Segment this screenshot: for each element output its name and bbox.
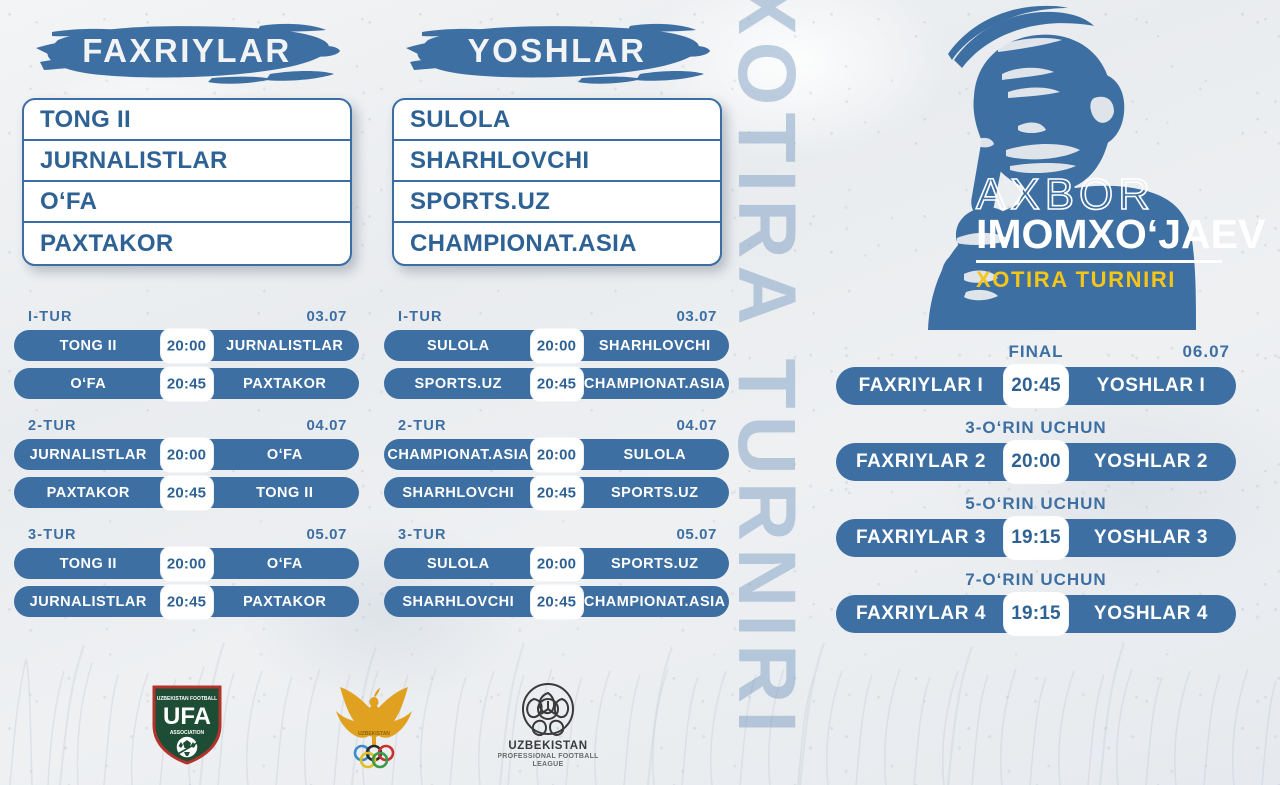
olympic-country-text: UZBEKISTAN [358, 731, 390, 737]
final-block: FINAL 06.07 FAXRIYLAR I 20:45 YOSHLAR I [836, 342, 1236, 405]
partner-logos-row: UZBEKISTAN FOOTBALL UFA ASSOCIATION [130, 679, 600, 771]
tournament-poster: XOTIRA TURNIRI FAXRIYLAR TONG II JURN [0, 0, 1280, 785]
upl-top-text: PROFESSIONAL FOOTBALL [498, 753, 598, 760]
team-list-item: SULOLA [394, 100, 720, 141]
team-list-item: PAXTAKOR [24, 223, 350, 264]
logo-divider-rule [976, 260, 1222, 263]
match-time: 20:00 [161, 547, 213, 580]
group-block-faxriylar: FAXRIYLAR TONG II JURNALISTLAR OʻFA PAXT… [22, 18, 352, 266]
final-label: 5-OʻRIN UCHUN [965, 494, 1106, 514]
final-header: 5-OʻRIN UCHUN [836, 494, 1236, 519]
round-block: 2-TUR 04.07 JURNALISTLAR 20:00 OʻFA PAXT… [14, 417, 359, 508]
team-list-item: CHAMPIONAT.ASIA [394, 223, 720, 264]
match-time: 20:00 [161, 438, 213, 471]
match-row: SPORTS.UZ 20:45 CHAMPIONAT.ASIA [384, 368, 729, 399]
match-row: SHARHLOVCHI 20:45 CHAMPIONAT.ASIA [384, 586, 729, 617]
round-label: I-TUR [398, 309, 443, 325]
group-title-brush-b: YOSHLAR [392, 18, 722, 90]
round-block: I-TUR 03.07 SULOLA 20:00 SHARHLOVCHI SPO… [384, 308, 729, 399]
round-header: I-TUR 03.07 [14, 308, 359, 330]
round-label: 3-TUR [398, 527, 447, 543]
round-block: 2-TUR 04.07 CHAMPIONAT.ASIA 20:00 SULOLA… [384, 417, 729, 508]
round-date: 05.07 [306, 526, 347, 543]
watermark-text: XOTIRA TURNIRI [719, 0, 813, 740]
final-label: 3-OʻRIN UCHUN [965, 418, 1106, 438]
round-block: 3-TUR 05.07 TONG II 20:00 OʻFA JURNALIST… [14, 526, 359, 617]
match-row: SULOLA 20:00 SHARHLOVCHI [384, 330, 729, 361]
round-label: 2-TUR [398, 418, 447, 434]
match-row: CHAMPIONAT.ASIA 20:00 SULOLA [384, 439, 729, 470]
final-label: FINAL [1008, 342, 1063, 362]
team-list-card-b: SULOLA SHARHLOVCHI SPORTS.UZ CHAMPIONAT.… [392, 98, 722, 266]
match-time: 20:00 [531, 329, 583, 362]
team-list-item: SPORTS.UZ [394, 182, 720, 223]
match-row: OʻFA 20:45 PAXTAKOR [14, 368, 359, 399]
final-time: 19:15 [1004, 593, 1068, 635]
logo-line-axbor: AXBOR [976, 173, 1266, 216]
final-time: 19:15 [1004, 517, 1068, 559]
round-date: 04.07 [676, 417, 717, 434]
group-title-a: FAXRIYLAR [22, 18, 352, 90]
match-row: PAXTAKOR 20:45 TONG II [14, 477, 359, 508]
final-label: 7-OʻRIN UCHUN [965, 570, 1106, 590]
team-list-item: SHARHLOVCHI [394, 141, 720, 182]
tournament-logotype: AXBOR IMOMXOʻJAEV XOTIRA TURNIRI [976, 173, 1266, 293]
team-list-item: TONG II [24, 100, 350, 141]
round-label: 2-TUR [28, 418, 77, 434]
match-time: 20:45 [531, 585, 583, 618]
team-list-item: OʻFA [24, 182, 350, 223]
final-match-row: FAXRIYLAR 2 20:00 YOSHLAR 2 [836, 443, 1236, 481]
match-time: 20:45 [531, 476, 583, 509]
match-time: 20:00 [531, 547, 583, 580]
round-header: 2-TUR 04.07 [384, 417, 729, 439]
upl-bottom-text: LEAGUE [533, 761, 564, 768]
match-row: JURNALISTLAR 20:45 PAXTAKOR [14, 586, 359, 617]
round-date: 03.07 [676, 308, 717, 325]
final-block: 7-OʻRIN UCHUN FAXRIYLAR 4 19:15 YOSHLAR … [836, 570, 1236, 633]
final-match-row: FAXRIYLAR 3 19:15 YOSHLAR 3 [836, 519, 1236, 557]
match-time: 20:45 [161, 367, 213, 400]
group-title-brush-a: FAXRIYLAR [22, 18, 352, 90]
logo-line-name: IMOMXOʻJAEV [976, 214, 1266, 255]
round-header: 3-TUR 05.07 [384, 526, 729, 548]
upl-logo: UZBEKISTAN PROFESSIONAL FOOTBALL LEAGUE [498, 679, 598, 774]
match-time: 20:00 [161, 329, 213, 362]
match-time: 20:45 [531, 367, 583, 400]
final-header: 3-OʻRIN UCHUN [836, 418, 1236, 443]
finals-column: FINAL 06.07 FAXRIYLAR I 20:45 YOSHLAR I … [836, 342, 1236, 646]
ufa-abbr: UFA [163, 703, 211, 730]
round-label: I-TUR [28, 309, 73, 325]
match-row: TONG II 20:00 OʻFA [14, 548, 359, 579]
final-time: 20:00 [1004, 441, 1068, 483]
logo-line-subtitle: XOTIRA TURNIRI [976, 267, 1266, 293]
hero-section: AXBOR IMOMXOʻJAEV XOTIRA TURNIRI [858, 0, 1278, 330]
final-match-row: FAXRIYLAR I 20:45 YOSHLAR I [836, 367, 1236, 405]
match-row: TONG II 20:00 JURNALISTLAR [14, 330, 359, 361]
final-block: 5-OʻRIN UCHUN FAXRIYLAR 3 19:15 YOSHLAR … [836, 494, 1236, 557]
olympic-committee-logo: UZBEKISTAN [330, 679, 418, 774]
upl-country-text: UZBEKISTAN [508, 740, 587, 752]
final-block: 3-OʻRIN UCHUN FAXRIYLAR 2 20:00 YOSHLAR … [836, 418, 1236, 481]
match-row: SULOLA 20:00 SPORTS.UZ [384, 548, 729, 579]
match-time: 20:45 [161, 585, 213, 618]
final-match-row: FAXRIYLAR 4 19:15 YOSHLAR 4 [836, 595, 1236, 633]
round-header: I-TUR 03.07 [384, 308, 729, 330]
ufa-logo: UZBEKISTAN FOOTBALL UFA ASSOCIATION [148, 679, 226, 772]
final-header: 7-OʻRIN UCHUN [836, 570, 1236, 595]
match-time: 20:45 [161, 476, 213, 509]
match-row: SHARHLOVCHI 20:45 SPORTS.UZ [384, 477, 729, 508]
group-title-b: YOSHLAR [392, 18, 722, 90]
match-row: JURNALISTLAR 20:00 OʻFA [14, 439, 359, 470]
final-date: 06.07 [1182, 342, 1230, 362]
round-block: I-TUR 03.07 TONG II 20:00 JURNALISTLAR O… [14, 308, 359, 399]
team-list-card-a: TONG II JURNALISTLAR OʻFA PAXTAKOR [22, 98, 352, 266]
round-label: 3-TUR [28, 527, 77, 543]
group-block-yoshlar: YOSHLAR SULOLA SHARHLOVCHI SPORTS.UZ CHA… [392, 18, 722, 266]
schedule-column-yoshlar: I-TUR 03.07 SULOLA 20:00 SHARHLOVCHI SPO… [384, 308, 729, 635]
round-block: 3-TUR 05.07 SULOLA 20:00 SPORTS.UZ SHARH… [384, 526, 729, 617]
match-time: 20:00 [531, 438, 583, 471]
round-header: 3-TUR 05.07 [14, 526, 359, 548]
round-date: 05.07 [676, 526, 717, 543]
round-date: 04.07 [306, 417, 347, 434]
ufa-top-text: UZBEKISTAN FOOTBALL [157, 696, 217, 702]
schedule-column-faxriylar: I-TUR 03.07 TONG II 20:00 JURNALISTLAR O… [14, 308, 359, 635]
final-header: FINAL 06.07 [836, 342, 1236, 367]
final-time: 20:45 [1004, 365, 1068, 407]
round-header: 2-TUR 04.07 [14, 417, 359, 439]
ufa-bottom-text: ASSOCIATION [170, 730, 205, 736]
round-date: 03.07 [306, 308, 347, 325]
team-list-item: JURNALISTLAR [24, 141, 350, 182]
